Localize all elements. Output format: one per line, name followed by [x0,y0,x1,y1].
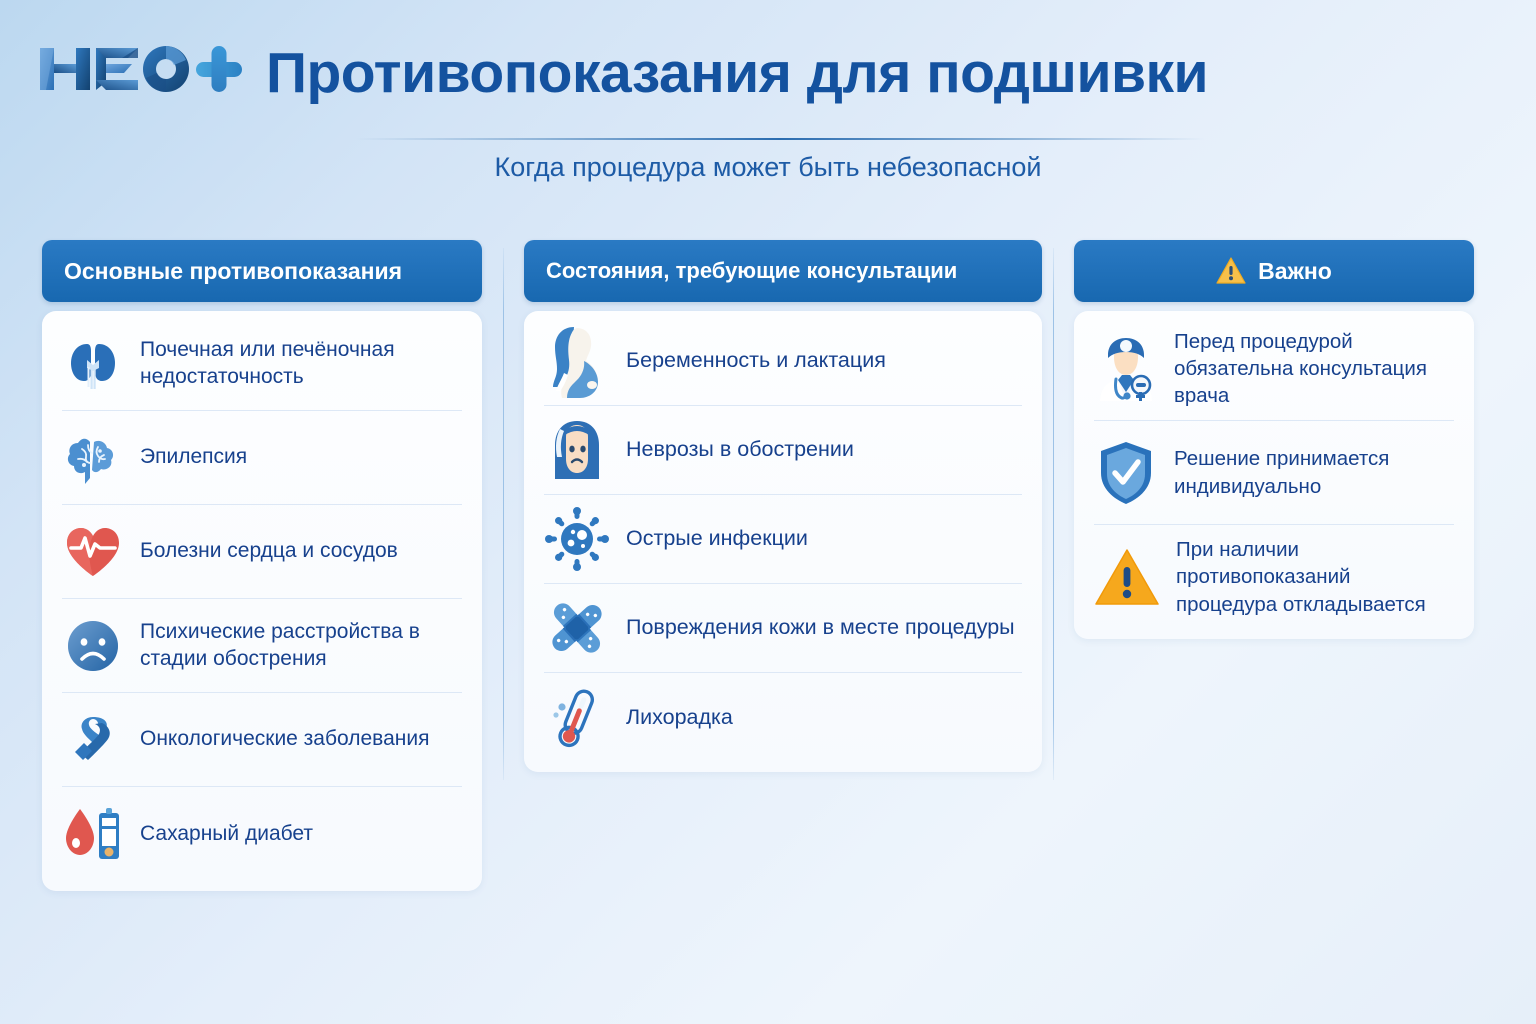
list-item-label: Острые инфекции [626,525,808,553]
column-header-label: Состояния, требующие консультации [546,258,957,284]
bandage-icon [544,595,610,661]
column-header-conditions-requiring-consultation: Состояния, требующие консультации [524,240,1042,302]
blood-drop-glucometer-icon [62,803,124,865]
list-item-label: Болезни сердца и сосудов [140,538,398,565]
column-main-contraindications: Основные противопоказания Почечная или п… [42,240,482,891]
list-item-label: Сахарный диабет [140,821,313,848]
list-item-label: При наличии противопоказаний процедура о… [1176,536,1454,618]
list-item[interactable]: Болезни сердца и сосудов [62,505,462,599]
virus-icon [544,506,610,572]
list-item-label: Повреждения кожи в месте процедуры [626,614,1015,642]
column-important: Важно [1074,240,1474,639]
list-item[interactable]: При наличии противопоказаний процедура о… [1094,525,1454,629]
columns-area: Основные противопоказания Почечная или п… [0,240,1536,880]
sad-face-icon [62,615,124,677]
list-item[interactable]: Беременность и лактация [544,317,1022,406]
list-item-label: Психические расстройства в стадии обостр… [140,619,462,673]
list-item[interactable]: Острые инфекции [544,495,1022,584]
list-item[interactable]: Решение принимается индивидуально [1094,421,1454,525]
column-divider-2 [1053,248,1054,780]
list-item[interactable]: Перед процедурой обязательна консультаци… [1094,317,1454,421]
list-item[interactable]: Психические расстройства в стадии обостр… [62,599,462,693]
title-row: Противопоказания для подшивки [36,38,1208,100]
brain-icon [62,427,124,489]
column-header-main-contraindications: Основные противопоказания [42,240,482,302]
heart-pulse-icon [62,521,124,583]
thermometer-icon [544,685,610,751]
list-item-label: Эпилепсия [140,444,247,471]
list-item[interactable]: Почечная или печёночная недостаточность [62,317,462,411]
list-item-label: Перед процедурой обязательна консультаци… [1174,328,1454,410]
list-item[interactable]: Неврозы в обострении [544,406,1022,495]
list-item-label: Беременность и лактация [626,347,886,375]
list-item-label: Лихорадка [626,704,733,732]
page-subtitle: Когда процедура может быть небезопасной [0,152,1536,183]
title-divider [355,138,1205,140]
column-header-important: Важно [1074,240,1474,302]
awareness-ribbon-icon [62,709,124,771]
anxious-face-icon [544,417,610,483]
column-header-label: Основные противопоказания [64,258,402,285]
list-item-label: Почечная или печёночная недостаточность [140,337,462,391]
list-item-label: Решение принимается индивидуально [1174,445,1454,500]
list-item[interactable]: Онкологические заболевания [62,693,462,787]
warning-triangle-icon [1094,545,1160,609]
list-item[interactable]: Эпилепсия [62,411,462,505]
list-item[interactable]: Повреждения кожи в месте процедуры [544,584,1022,673]
column-header-label: Важно [1258,258,1332,285]
list-item-label: Неврозы в обострении [626,436,854,464]
column-conditions-requiring-consultation: Состояния, требующие консультации Береме… [524,240,1042,772]
list-item[interactable]: Сахарный диабет [62,787,462,881]
page-header: Противопоказания для подшивки Когда проц… [0,0,1536,210]
warning-triangle-icon [1216,257,1246,285]
card-main-contraindications: Почечная или печёночная недостаточность [42,311,482,891]
doctor-icon [1094,337,1158,401]
list-item-label: Онкологические заболевания [140,726,429,753]
neo-plus-logo [36,38,246,100]
kidneys-icon [62,333,124,395]
column-divider-1 [503,248,504,780]
card-conditions-requiring-consultation: Беременность и лактация Неврозы в обостр… [524,311,1042,772]
list-item[interactable]: Лихорадка [544,673,1022,762]
card-important: Перед процедурой обязательна консультаци… [1074,311,1474,639]
shield-check-icon [1094,441,1158,505]
pregnant-woman-icon [544,328,610,394]
page-title: Противопоказания для подшивки [266,45,1208,102]
